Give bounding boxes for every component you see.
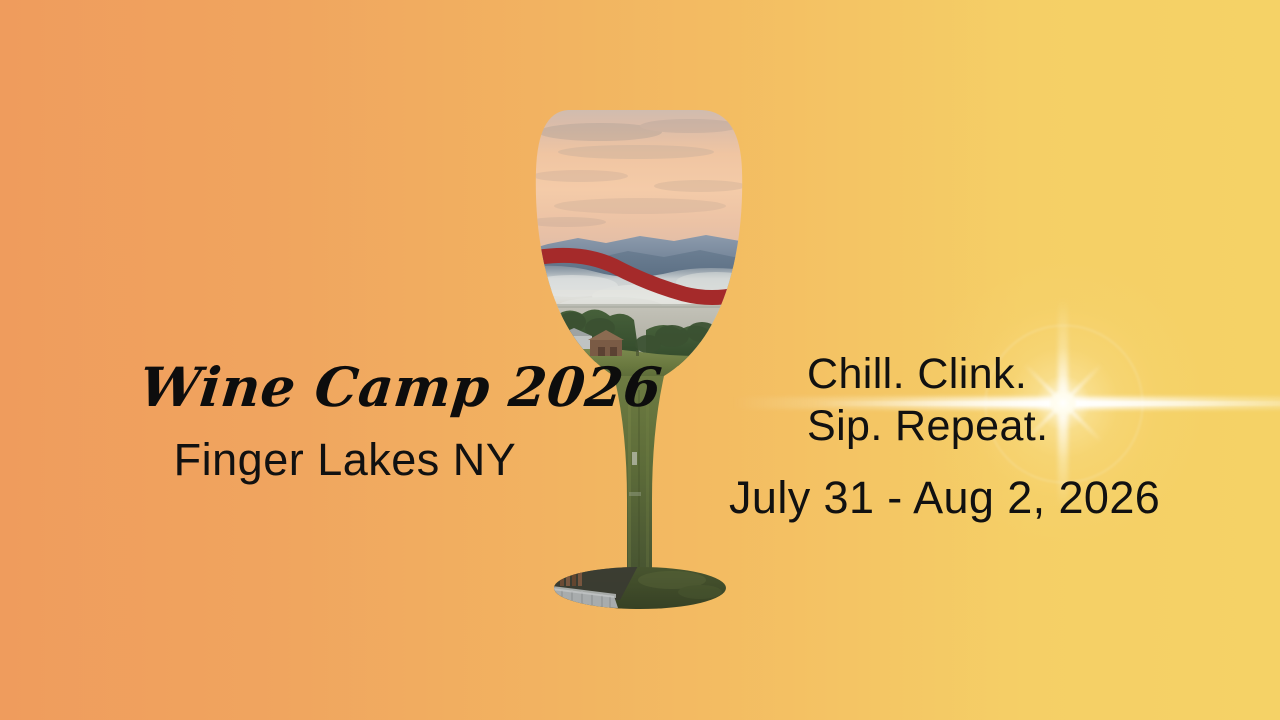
glass-base (550, 562, 730, 618)
headline-block: Wine Camp 2026 Finger Lakes NY (140, 360, 550, 483)
tagline-line-2: Sip. Repeat. (725, 400, 1165, 452)
tagline-line-1: Chill. Clink. (725, 348, 1165, 400)
tagline-block: Chill. Clink. Sip. Repeat. July 31 - Aug… (725, 348, 1165, 522)
page-title: Wine Camp 2026 (137, 360, 553, 414)
poster-canvas: Wine Camp 2026 Finger Lakes NY Chill. Cl… (0, 0, 1280, 720)
event-dates: July 31 - Aug 2, 2026 (725, 473, 1165, 523)
location-subtitle: Finger Lakes NY (140, 436, 550, 483)
stem-path-marker (632, 452, 637, 465)
